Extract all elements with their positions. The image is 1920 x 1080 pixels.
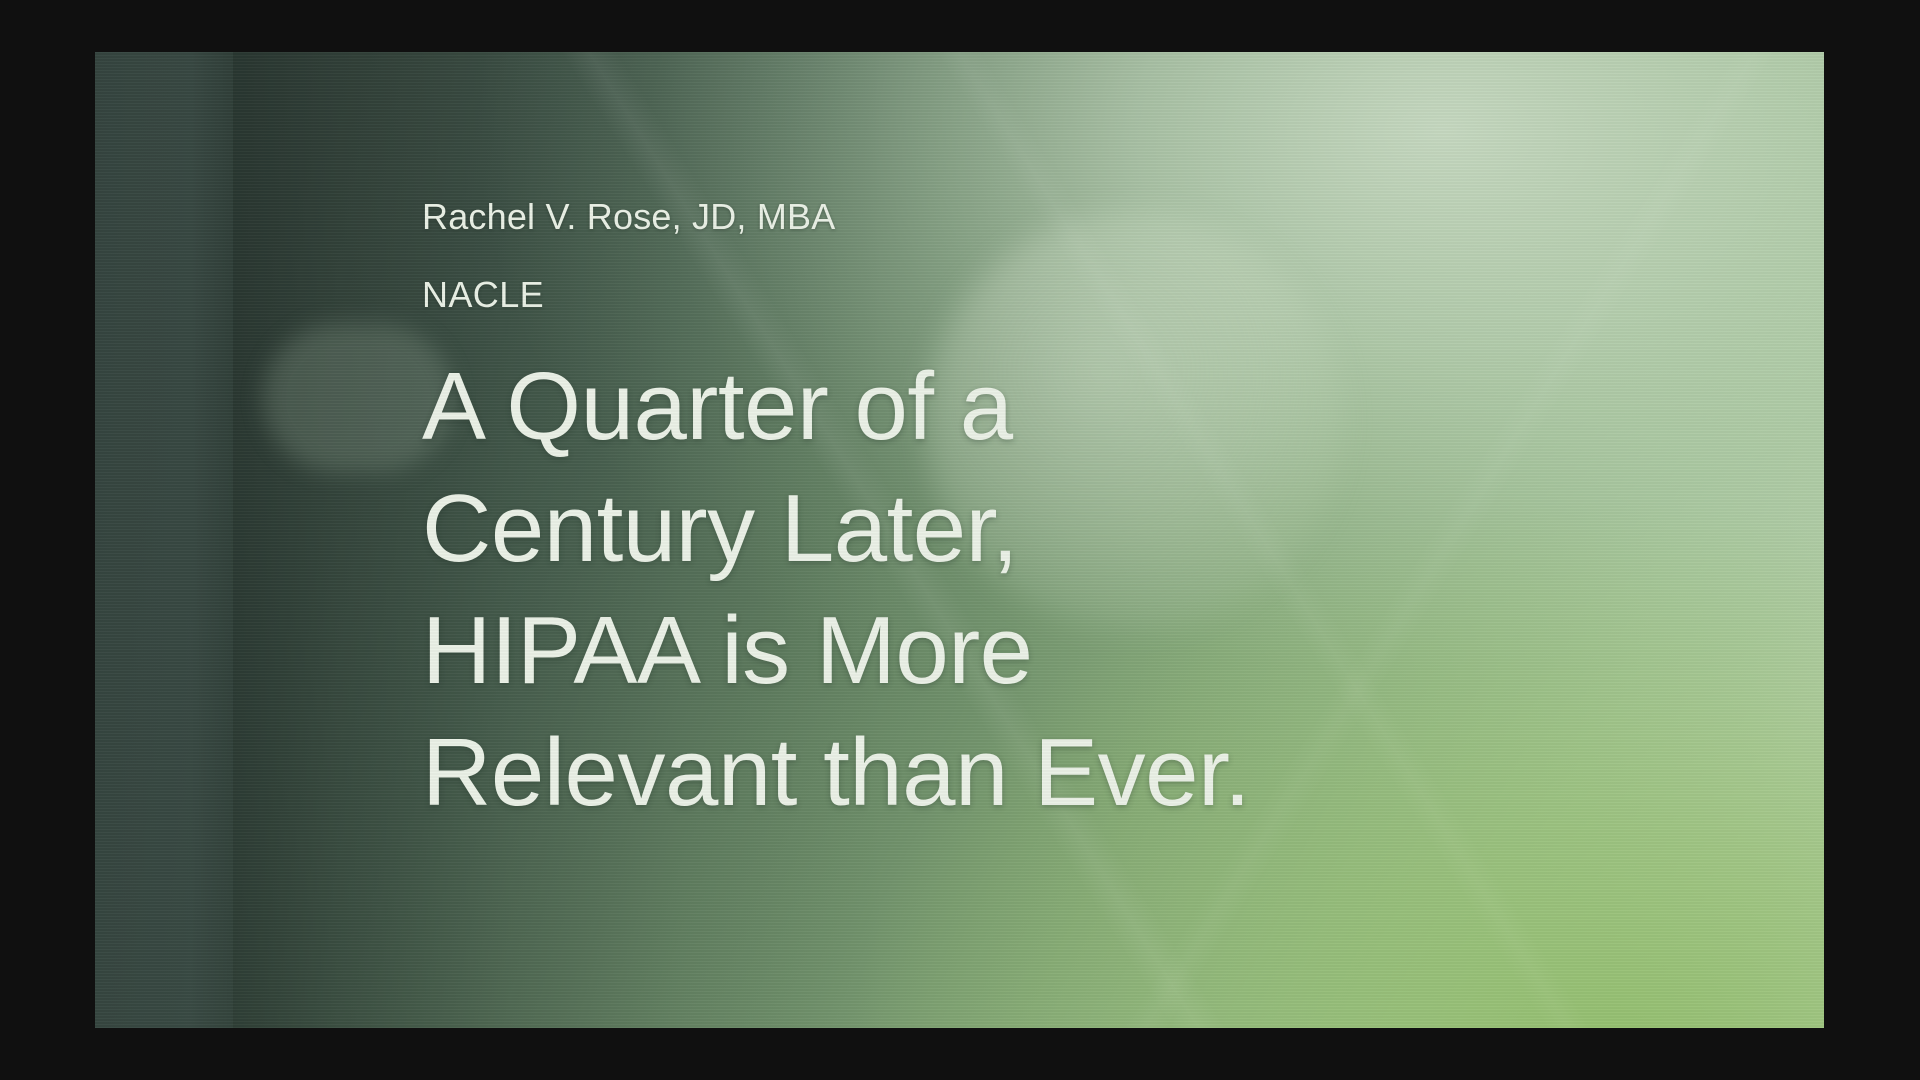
title-line-1: A Quarter of a	[422, 346, 1422, 468]
organization-name: NACLE	[422, 274, 544, 316]
slide-title: A Quarter of a Century Later, HIPAA is M…	[422, 346, 1422, 834]
title-line-3: HIPAA is More	[422, 590, 1422, 712]
author-name: Rachel V. Rose, JD, MBA	[422, 196, 835, 238]
slide-text-content: Rachel V. Rose, JD, MBA NACLE A Quarter …	[422, 52, 1752, 1028]
presentation-slide: Rachel V. Rose, JD, MBA NACLE A Quarter …	[95, 52, 1824, 1028]
title-line-4: Relevant than Ever.	[422, 712, 1422, 834]
title-line-2: Century Later,	[422, 468, 1422, 590]
video-letterbox-frame: Rachel V. Rose, JD, MBA NACLE A Quarter …	[0, 0, 1920, 1080]
